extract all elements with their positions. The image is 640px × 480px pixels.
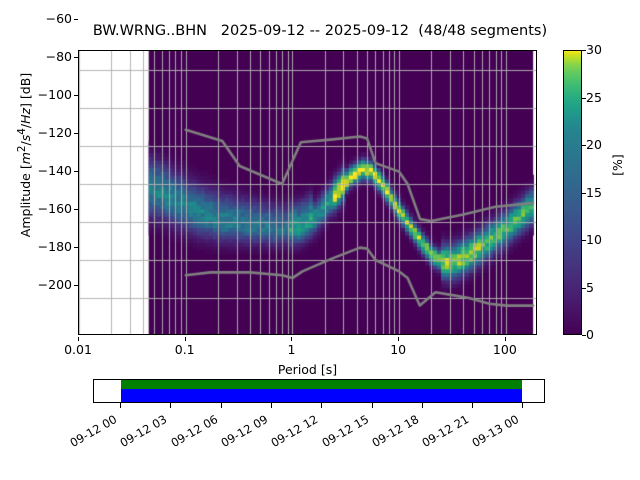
x-tick-label: 0.01: [64, 342, 92, 357]
x-tick-mark: [505, 337, 506, 341]
timeline-coverage[interactable]: [93, 379, 545, 403]
colorbar-tick-label: 0: [586, 327, 594, 342]
colorbar-tick-label: 20: [586, 137, 602, 152]
colorbar-tick-label: 15: [586, 185, 602, 200]
y-tick-mark: [74, 19, 78, 20]
y-tick-label: −60: [34, 11, 72, 26]
x-tick-label: 0.1: [175, 342, 195, 357]
timeline-tick-mark: [522, 403, 523, 408]
timeline-tick-label: 09-12 21: [420, 412, 472, 450]
timeline-ticks: 09-12 0009-12 0309-12 0609-12 0909-12 12…: [93, 403, 545, 417]
y-tick-label: −200: [34, 277, 72, 292]
timeline-tick-label: 09-12 09: [218, 412, 270, 450]
colorbar-tick-label: 10: [586, 232, 602, 247]
x-tick-label: 100: [493, 342, 517, 357]
timeline-tick-mark: [472, 403, 473, 408]
timeline-tick-mark: [271, 403, 272, 408]
timeline-tick-mark: [120, 403, 121, 408]
x-axis-ticks: 0.010.1110100: [78, 337, 537, 357]
y-tick-label: −160: [34, 201, 72, 216]
y-tick-label: −100: [34, 87, 72, 102]
y-tick-label: −120: [34, 125, 72, 140]
y-axis-ticks: −60−80−100−120−140−160−180−200: [28, 0, 72, 285]
timeline-tick-label: 09-12 18: [369, 412, 421, 450]
page-title: BW.WRNG..BHN 2025-09-12 -- 2025-09-12 (4…: [0, 23, 640, 39]
timeline-tick-label: 09-13 00: [470, 412, 522, 450]
x-tick-label: 1: [287, 342, 295, 357]
y-tick-label: −180: [34, 239, 72, 254]
colorbar: [563, 50, 582, 335]
colorbar-tick-label: 25: [586, 90, 602, 105]
timeline-tick-label: 09-12 03: [118, 412, 170, 450]
x-tick-label: 10: [390, 342, 406, 357]
timeline-tick-mark: [321, 403, 322, 408]
timeline-tick-mark: [372, 403, 373, 408]
timeline-bar-data-coverage: [121, 380, 522, 389]
x-tick-mark: [185, 337, 186, 341]
colorbar-label: [%]: [610, 125, 625, 205]
timeline-tick-label: 09-12 12: [269, 412, 321, 450]
timeline-tick-mark: [422, 403, 423, 408]
colorbar-tick-label: 30: [586, 42, 602, 57]
timeline-tick-label: 09-12 15: [319, 412, 371, 450]
timeline-tick-label: 09-12 06: [168, 412, 220, 450]
ppsd-figure: BW.WRNG..BHN 2025-09-12 -- 2025-09-12 (4…: [0, 0, 640, 480]
ppsd-plot-area[interactable]: [78, 50, 537, 335]
timeline-tick-mark: [221, 403, 222, 408]
y-tick-label: −140: [34, 163, 72, 178]
x-tick-mark: [291, 337, 292, 341]
timeline-bar-psd-segments: [121, 389, 522, 402]
x-tick-mark: [78, 337, 79, 341]
colorbar-tick-label: 5: [586, 280, 594, 295]
ppsd-histogram-canvas: [79, 51, 537, 335]
timeline-tick-mark: [170, 403, 171, 408]
timeline-tick-label: 09-12 00: [68, 412, 120, 450]
y-tick-label: −80: [34, 49, 72, 64]
x-tick-mark: [398, 337, 399, 341]
x-axis-label: Period [s]: [78, 362, 537, 377]
